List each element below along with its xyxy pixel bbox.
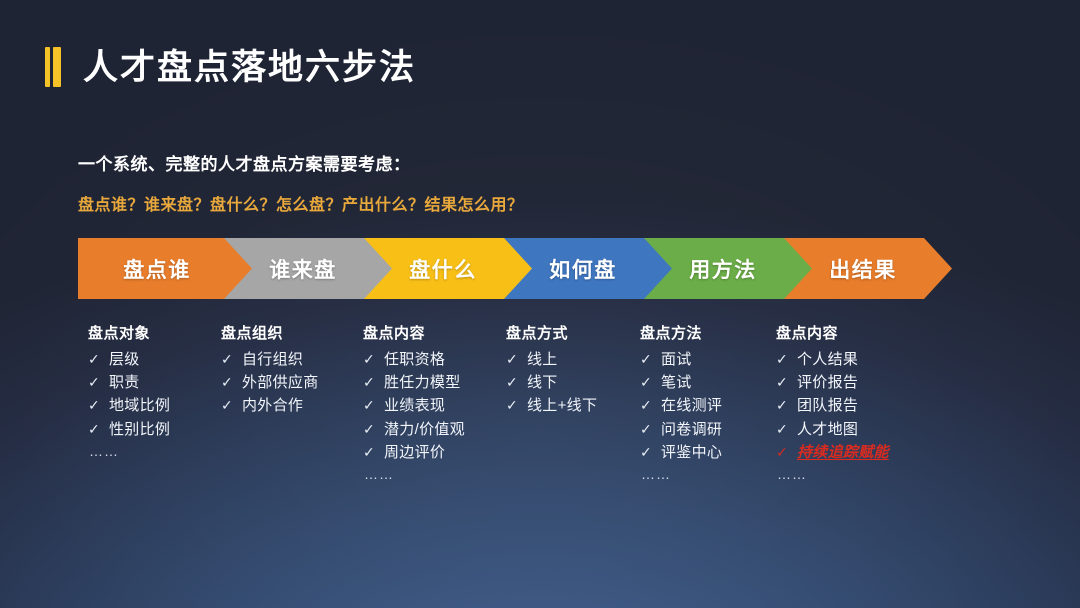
detail-column-3: 盘点内容✓任职资格✓胜任力模型✓业绩表现✓潜力/价值观✓周边评价…… <box>363 322 465 482</box>
check-icon: ✓ <box>363 398 374 412</box>
check-icon: ✓ <box>363 352 374 366</box>
list-item: ✓线上 <box>506 350 597 369</box>
list-item-label: 人才地图 <box>797 420 858 439</box>
column-item-list: ✓层级✓职责✓地域比例✓性别比例 <box>88 350 170 439</box>
column-heading: 盘点内容 <box>363 322 465 343</box>
list-item-label: 线下 <box>527 373 558 392</box>
list-item-label: 周边评价 <box>384 443 445 462</box>
column-item-list: ✓任职资格✓胜任力模型✓业绩表现✓潜力/价值观✓周边评价 <box>363 350 465 462</box>
list-item-label: 评价报告 <box>797 373 858 392</box>
detail-column-4: 盘点方式✓线上✓线下✓线上+线下 <box>506 322 597 420</box>
check-icon: ✓ <box>506 398 517 412</box>
check-icon: ✓ <box>221 398 232 412</box>
double-bar-icon <box>45 47 61 87</box>
list-item: ✓职责 <box>88 373 170 392</box>
check-icon: ✓ <box>506 352 517 366</box>
list-item-label: 胜任力模型 <box>384 373 461 392</box>
list-item-label: 线上+线下 <box>527 396 597 415</box>
list-item-label: 面试 <box>661 350 692 369</box>
list-item-label: 个人结果 <box>797 350 858 369</box>
list-item: ✓评鉴中心 <box>640 443 722 462</box>
list-item-label: 内外合作 <box>242 396 303 415</box>
list-item: ✓在线测评 <box>640 396 722 415</box>
list-item-label: 持续追踪赋能 <box>797 443 889 462</box>
check-icon: ✓ <box>776 352 787 366</box>
list-item: ✓笔试 <box>640 373 722 392</box>
list-item: ✓评价报告 <box>776 373 889 392</box>
check-icon: ✓ <box>640 445 651 459</box>
check-icon: ✓ <box>363 422 374 436</box>
list-item-label: 在线测评 <box>661 396 722 415</box>
column-heading: 盘点方式 <box>506 322 597 343</box>
list-item: ✓问卷调研 <box>640 420 722 439</box>
check-icon: ✓ <box>776 422 787 436</box>
list-item: ✓内外合作 <box>221 396 319 415</box>
check-icon: ✓ <box>776 375 787 389</box>
detail-column-1: 盘点对象✓层级✓职责✓地域比例✓性别比例…… <box>88 322 170 459</box>
check-icon: ✓ <box>88 375 99 389</box>
check-icon: ✓ <box>88 422 99 436</box>
list-item-label: 业绩表现 <box>384 396 445 415</box>
column-item-list: ✓线上✓线下✓线上+线下 <box>506 350 597 416</box>
list-item: ✓业绩表现 <box>363 396 465 415</box>
detail-column-6: 盘点内容✓个人结果✓评价报告✓团队报告✓人才地图✓持续追踪赋能…… <box>776 322 889 482</box>
check-icon: ✓ <box>88 398 99 412</box>
check-icon: ✓ <box>640 352 651 366</box>
check-icon: ✓ <box>363 375 374 389</box>
check-icon: ✓ <box>221 352 232 366</box>
list-item-label: 性别比例 <box>109 420 170 439</box>
list-item: ✓人才地图 <box>776 420 889 439</box>
process-step-1[interactable]: 盘点谁 <box>78 238 252 299</box>
process-chevron-band: 出结果用方法如何盘盘什么谁来盘盘点谁 <box>78 238 902 299</box>
ellipsis-marker: …… <box>777 466 889 482</box>
column-heading: 盘点对象 <box>88 322 170 343</box>
page-title: 人才盘点落地六步法 <box>83 50 416 85</box>
list-item: ✓胜任力模型 <box>363 373 465 392</box>
ellipsis-marker: …… <box>641 466 722 482</box>
list-item: ✓个人结果 <box>776 350 889 369</box>
list-item-label: 笔试 <box>661 373 692 392</box>
detail-column-2: 盘点组织✓自行组织✓外部供应商✓内外合作 <box>221 322 319 420</box>
list-item: ✓性别比例 <box>88 420 170 439</box>
list-item: ✓任职资格 <box>363 350 465 369</box>
check-icon: ✓ <box>640 422 651 436</box>
column-heading: 盘点内容 <box>776 322 889 343</box>
list-item: ✓面试 <box>640 350 722 369</box>
slide-header: 人才盘点落地六步法 <box>45 47 416 87</box>
list-item-label: 层级 <box>109 350 140 369</box>
list-item: ✓周边评价 <box>363 443 465 462</box>
list-item-label: 评鉴中心 <box>661 443 722 462</box>
list-item-label: 地域比例 <box>109 396 170 415</box>
subtitle-accent: 盘点谁？谁来盘？盘什么？怎么盘？产出什么？结果怎么用？ <box>78 191 524 215</box>
list-item-label: 自行组织 <box>242 350 303 369</box>
check-icon: ✓ <box>640 375 651 389</box>
list-item-label: 任职资格 <box>384 350 445 369</box>
column-heading: 盘点组织 <box>221 322 319 343</box>
list-item: ✓潜力/价值观 <box>363 420 465 439</box>
list-item-label: 团队报告 <box>797 396 858 415</box>
list-item-label: 问卷调研 <box>661 420 722 439</box>
check-icon: ✓ <box>363 445 374 459</box>
slide-canvas: 人才盘点落地六步法 一个系统、完整的人才盘点方案需要考虑： 盘点谁？谁来盘？盘什… <box>0 0 1080 608</box>
list-item: ✓持续追踪赋能 <box>776 443 889 462</box>
subtitle-primary: 一个系统、完整的人才盘点方案需要考虑： <box>78 150 411 175</box>
list-item: ✓层级 <box>88 350 170 369</box>
list-item: ✓外部供应商 <box>221 373 319 392</box>
column-item-list: ✓个人结果✓评价报告✓团队报告✓人才地图✓持续追踪赋能 <box>776 350 889 462</box>
list-item: ✓地域比例 <box>88 396 170 415</box>
check-icon: ✓ <box>640 398 651 412</box>
list-item: ✓自行组织 <box>221 350 319 369</box>
column-heading: 盘点方法 <box>640 322 722 343</box>
list-item-label: 职责 <box>109 373 140 392</box>
column-item-list: ✓自行组织✓外部供应商✓内外合作 <box>221 350 319 416</box>
ellipsis-marker: …… <box>364 466 465 482</box>
check-icon: ✓ <box>776 398 787 412</box>
list-item: ✓团队报告 <box>776 396 889 415</box>
detail-column-5: 盘点方法✓面试✓笔试✓在线测评✓问卷调研✓评鉴中心…… <box>640 322 722 482</box>
check-icon: ✓ <box>88 352 99 366</box>
list-item-label: 潜力/价值观 <box>384 420 465 439</box>
list-item-label: 外部供应商 <box>242 373 319 392</box>
check-icon: ✓ <box>221 375 232 389</box>
detail-columns: 盘点对象✓层级✓职责✓地域比例✓性别比例……盘点组织✓自行组织✓外部供应商✓内外… <box>78 322 1008 492</box>
check-icon: ✓ <box>776 445 787 459</box>
ellipsis-marker: …… <box>89 443 170 459</box>
list-item: ✓线下 <box>506 373 597 392</box>
process-step-label: 盘点谁 <box>78 254 252 284</box>
list-item: ✓线上+线下 <box>506 396 597 415</box>
list-item-label: 线上 <box>527 350 558 369</box>
column-item-list: ✓面试✓笔试✓在线测评✓问卷调研✓评鉴中心 <box>640 350 722 462</box>
check-icon: ✓ <box>506 375 517 389</box>
